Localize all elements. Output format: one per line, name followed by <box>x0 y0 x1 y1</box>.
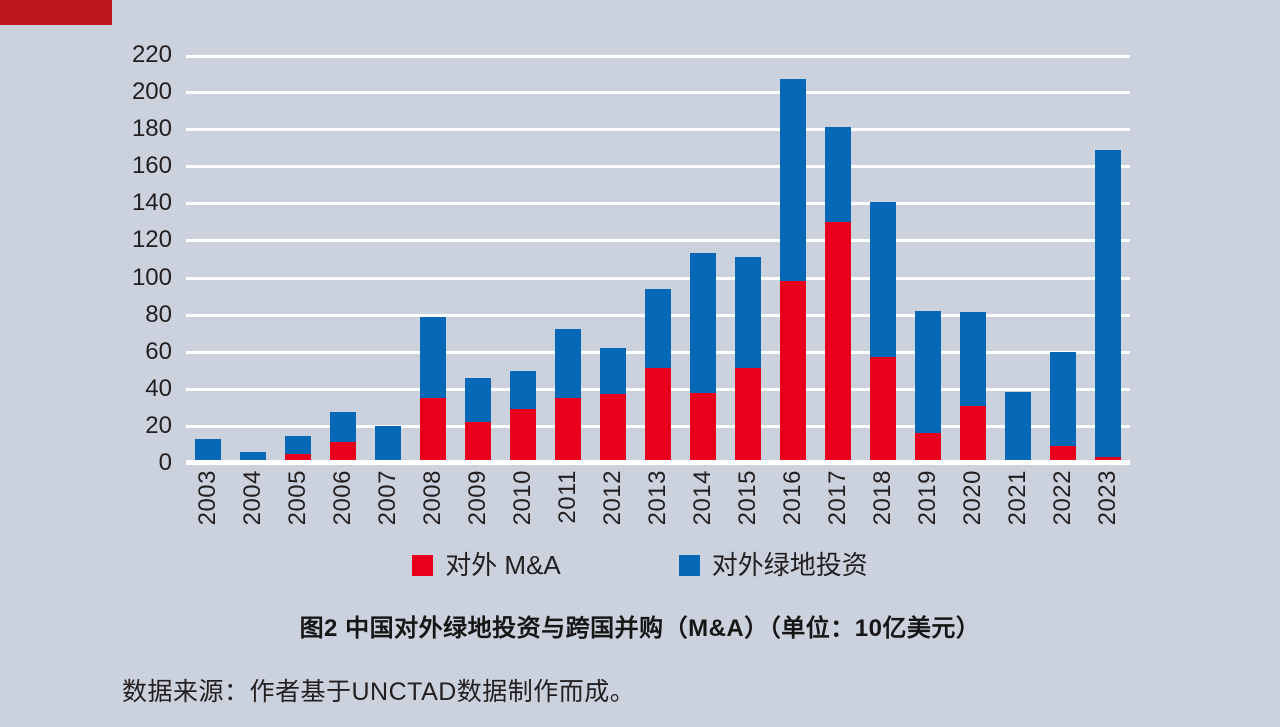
x-axis-tick-label: 2023 <box>1095 470 1121 525</box>
legend-swatch-icon <box>679 555 700 576</box>
x-axis-tick-label: 2006 <box>330 470 356 525</box>
x-axis-tick-label: 2009 <box>465 470 491 525</box>
bar-segment-greenfield <box>645 289 671 369</box>
bar-segment-greenfield <box>375 426 401 460</box>
x-axis-tick-label: 2008 <box>420 470 446 525</box>
legend-swatch-icon <box>412 555 433 576</box>
bar-segment-greenfield <box>960 312 986 406</box>
chart-page: 220200180160140120100806040200 200320042… <box>0 0 1280 727</box>
corner-accent-bar <box>0 0 112 25</box>
y-axis-tick-label: 60 <box>120 340 172 364</box>
bar-segment-greenfield <box>510 371 536 409</box>
figure-source: 数据来源：作者基于UNCTAD数据制作而成。 <box>122 672 635 708</box>
bar-segment-greenfield <box>420 317 446 399</box>
bar-segment-greenfield <box>1050 352 1076 447</box>
legend-item[interactable]: 对外 M&A <box>412 552 561 578</box>
bar-segment-greenfield <box>600 348 626 394</box>
bar-segment-greenfield <box>735 257 761 368</box>
bar-segment-ma <box>825 222 851 463</box>
y-axis: 220200180160140120100806040200 <box>120 55 172 463</box>
legend-label: 对外 M&A <box>445 552 561 578</box>
legend-label: 对外绿地投资 <box>712 552 868 578</box>
bar-segment-greenfield <box>195 439 221 460</box>
x-axis-tick-label: 2020 <box>960 470 986 525</box>
x-axis-baseline <box>186 460 1130 463</box>
x-axis-tick-label: 2013 <box>645 470 671 525</box>
x-axis-tick-label: 2003 <box>195 470 221 525</box>
bar-segment-ma <box>780 281 806 463</box>
x-axis-tick-label: 2014 <box>690 470 716 525</box>
y-axis-tick-label: 160 <box>120 154 172 178</box>
y-axis-tick-label: 180 <box>120 117 172 141</box>
bar-segment-ma <box>870 357 896 463</box>
x-axis-tick-label: 2017 <box>825 470 851 525</box>
chart-legend: 对外 M&A对外绿地投资 <box>0 552 1280 578</box>
bar-segment-greenfield <box>330 412 356 442</box>
x-axis-tick-label: 2021 <box>1005 470 1031 525</box>
y-axis-tick-label: 20 <box>120 414 172 438</box>
bar-segment-greenfield <box>690 253 716 392</box>
x-axis: 2003200420052006200720082009201020112012… <box>186 470 1130 538</box>
x-axis-tick-label: 2007 <box>375 470 401 525</box>
x-axis-tick-label: 2018 <box>870 470 896 525</box>
y-axis-tick-label: 80 <box>120 303 172 327</box>
y-axis-tick-label: 120 <box>120 228 172 252</box>
bar-segment-greenfield <box>465 378 491 423</box>
bar-segment-ma <box>735 368 761 463</box>
figure-caption: 图2 中国对外绿地投资与跨国并购（M&A）（单位：10亿美元） <box>0 608 1280 643</box>
plot-area <box>186 55 1130 463</box>
bar-segment-ma <box>915 433 941 463</box>
bar-segment-ma <box>420 398 446 463</box>
bar-segment-greenfield <box>870 202 896 358</box>
bar-segment-greenfield <box>825 127 851 222</box>
bar-segment-ma <box>645 368 671 463</box>
bar-segment-greenfield <box>285 436 311 454</box>
y-axis-tick-label: 0 <box>120 451 172 475</box>
x-axis-tick-label: 2016 <box>780 470 806 525</box>
y-axis-tick-label: 140 <box>120 191 172 215</box>
y-axis-tick-label: 220 <box>120 43 172 67</box>
bar-segment-ma <box>600 394 626 463</box>
legend-item[interactable]: 对外绿地投资 <box>679 552 868 578</box>
chart-area: 220200180160140120100806040200 <box>120 55 1130 475</box>
y-axis-tick-label: 40 <box>120 377 172 401</box>
x-axis-tick-label: 2022 <box>1050 470 1076 525</box>
x-axis-tick-label: 2015 <box>735 470 761 525</box>
x-axis-tick-label: 2005 <box>285 470 311 525</box>
bar-segment-greenfield <box>1005 392 1031 462</box>
bar-segment-ma <box>690 393 716 463</box>
bar-segment-ma <box>510 409 536 463</box>
x-axis-tick-label: 2010 <box>510 470 536 525</box>
bar-segment-ma <box>465 422 491 463</box>
bar-segment-greenfield <box>915 311 941 433</box>
bar-segment-greenfield <box>555 329 581 398</box>
bar-segment-ma <box>555 398 581 463</box>
bar-segment-ma <box>960 406 986 463</box>
bar-segment-greenfield <box>780 79 806 281</box>
y-axis-tick-label: 200 <box>120 80 172 104</box>
x-axis-tick-label: 2019 <box>915 470 941 525</box>
bar-segment-greenfield <box>1095 150 1121 458</box>
x-axis-tick-label: 2011 <box>555 470 581 524</box>
bar-series-group <box>186 55 1130 463</box>
y-axis-tick-label: 100 <box>120 266 172 290</box>
x-axis-tick-label: 2004 <box>240 470 266 525</box>
x-axis-tick-label: 2012 <box>600 470 626 525</box>
